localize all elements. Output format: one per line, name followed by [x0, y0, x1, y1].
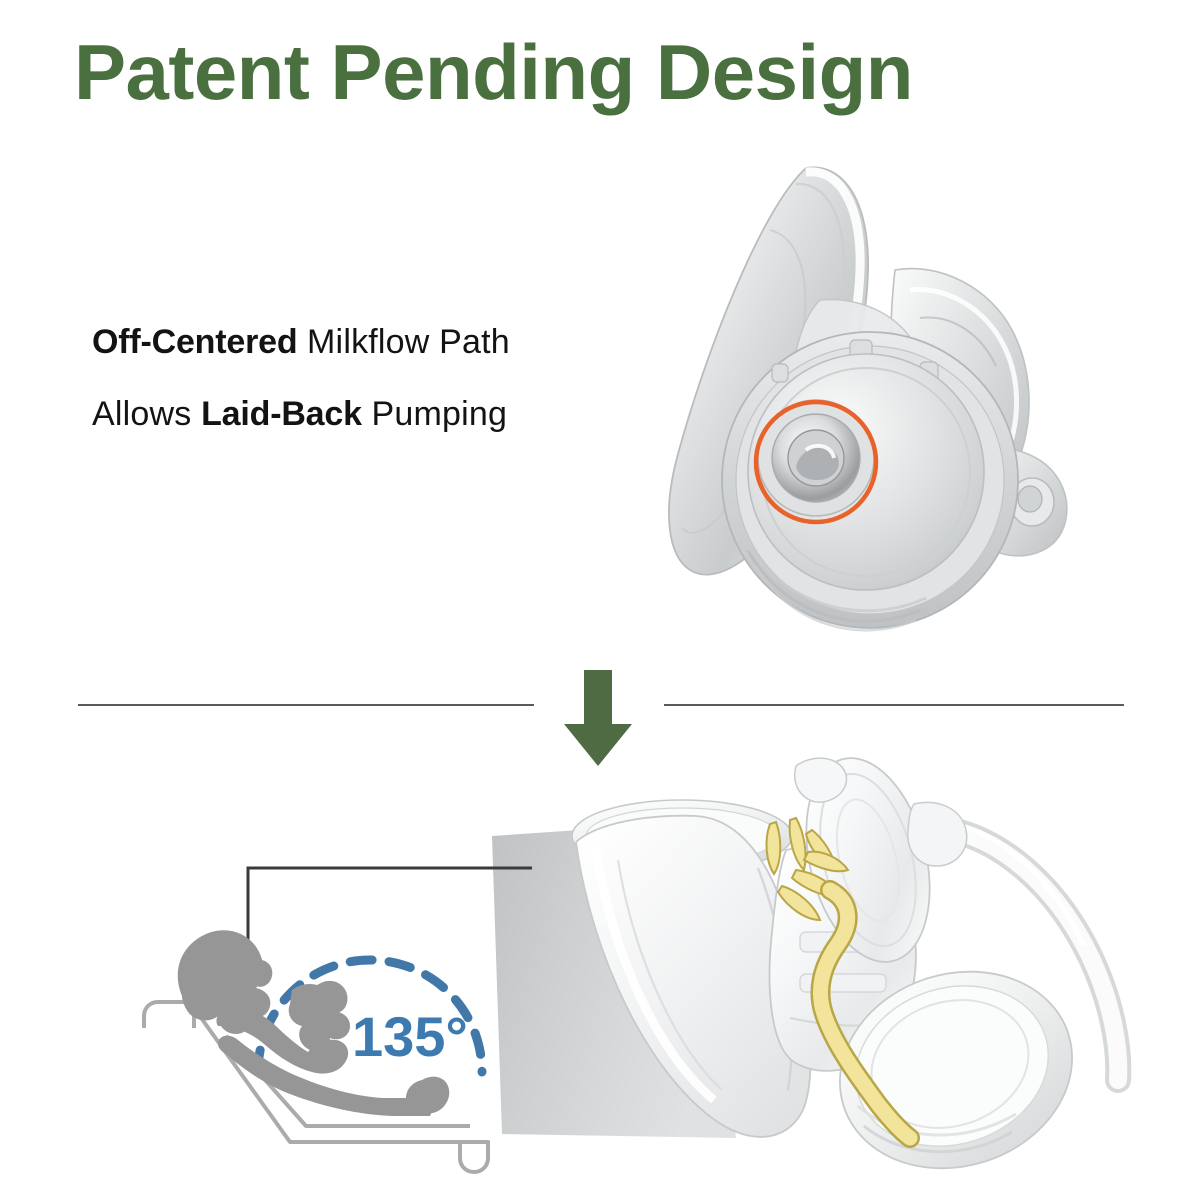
top-product-illustration [620, 150, 1090, 650]
feature-line-1-rest: Milkflow Path [297, 323, 510, 361]
bottom-product-illustration [500, 718, 1160, 1198]
feature-line-2-prefix: Allows [92, 395, 201, 433]
divider-right [664, 704, 1124, 706]
page-title: Patent Pending Design [74, 28, 1074, 116]
feature-line-2-rest: Pumping [362, 395, 507, 433]
infographic-page: Patent Pending Design Off-Centered Milkf… [0, 0, 1200, 1200]
feature-text-block: Off-Centered Milkflow Path Allows Laid-B… [92, 306, 672, 450]
leader-line [239, 868, 532, 961]
recline-illustration: 135° [130, 840, 550, 1185]
angle-label: 135° [352, 1005, 468, 1068]
feature-line-2-bold: Laid-Back [201, 395, 362, 433]
divider-left [78, 704, 534, 706]
feature-line-1: Off-Centered Milkflow Path [92, 306, 672, 378]
feature-line-1-bold: Off-Centered [92, 323, 297, 361]
feature-line-2: Allows Laid-Back Pumping [92, 378, 672, 450]
